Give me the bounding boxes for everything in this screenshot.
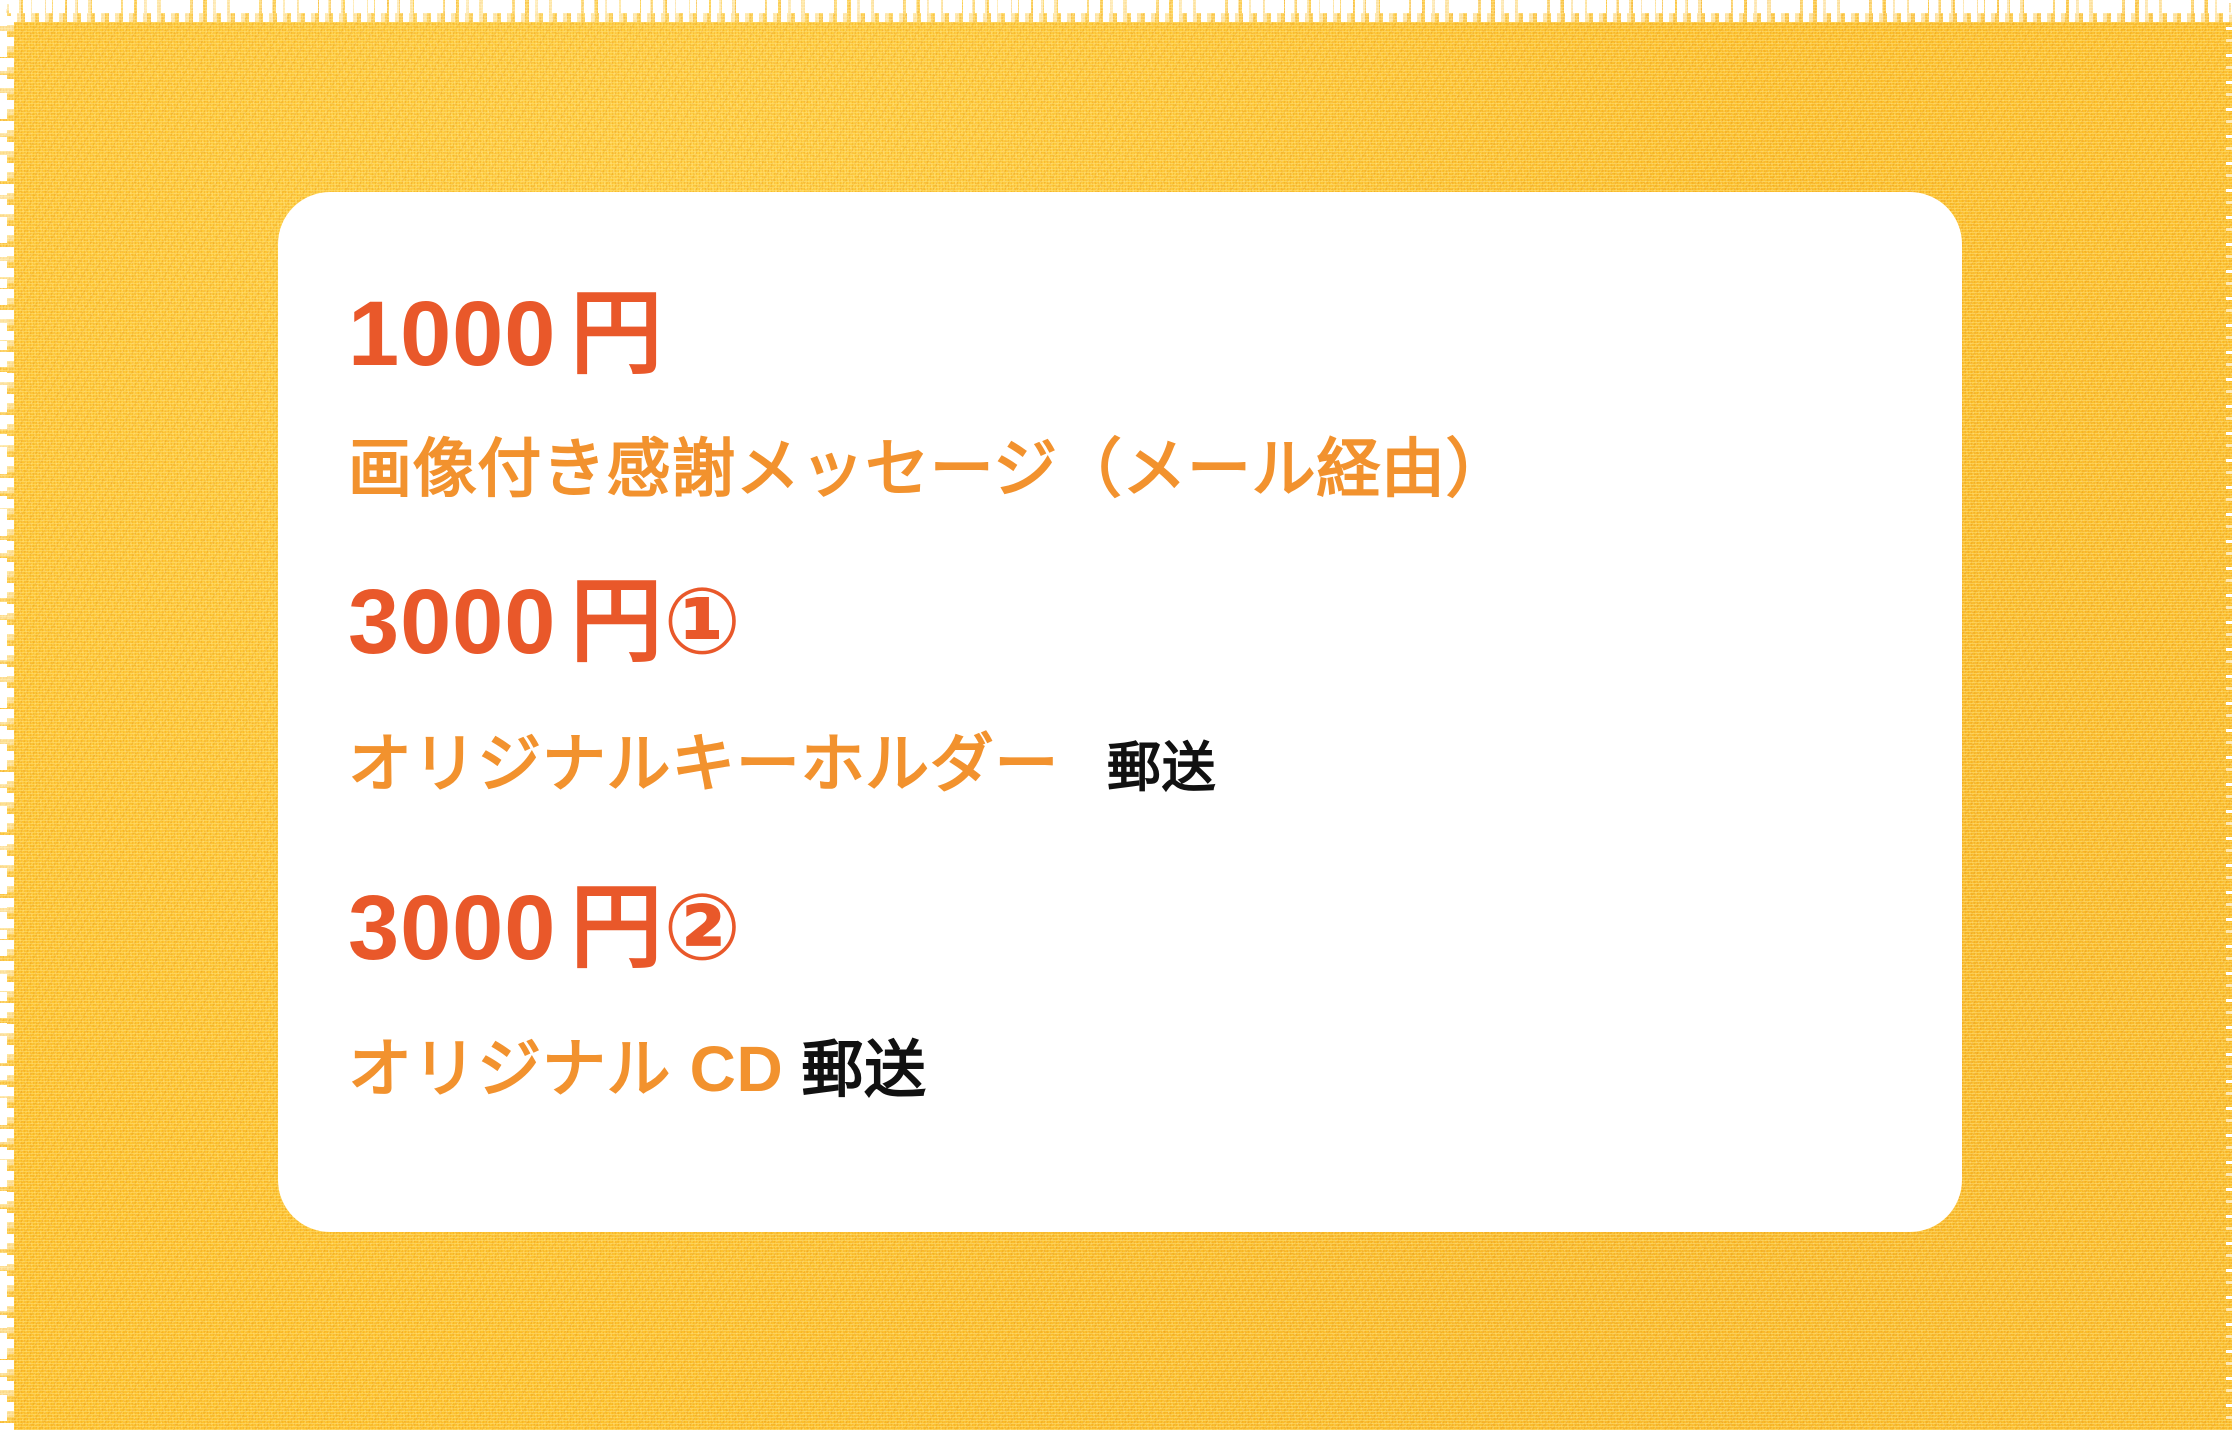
tier-perk-label: オリジナル CD <box>348 1033 783 1105</box>
tier-perk-1000: 画像付き感謝メッセージ（メール経由） <box>348 437 1510 501</box>
reward-tiers-card: 1000円 画像付き感謝メッセージ（メール経由） 3000円① オリジナルキーホ… <box>278 192 1962 1232</box>
tier-perk-3000-1: オリジナルキーホルダー郵送 <box>348 732 1216 796</box>
tier-price-amount: 3000 <box>348 877 556 979</box>
poster-canvas: 1000円 画像付き感謝メッセージ（メール経由） 3000円① オリジナルキーホ… <box>0 0 2232 1430</box>
tier-perk-label: オリジナルキーホルダー <box>348 728 1059 800</box>
tier-price-marker: ② <box>663 877 741 979</box>
tier-price-amount: 3000 <box>348 571 556 673</box>
tier-delivery-label: 郵送 <box>1107 738 1216 798</box>
tier-price-3000-2: 3000円② <box>348 882 741 974</box>
tier-price-3000-1: 3000円① <box>348 576 741 668</box>
tier-price-currency: 円 <box>570 571 663 673</box>
tier-delivery-label: 郵送 <box>801 1036 926 1105</box>
tier-price-currency: 円 <box>570 877 663 979</box>
tier-perk-label: 画像付き感謝メッセージ（メール経由） <box>348 433 1510 505</box>
tier-price-1000: 1000円 <box>348 288 663 380</box>
tier-perk-3000-2: オリジナル CD郵送 <box>348 1037 927 1102</box>
tier-price-currency: 円 <box>570 283 663 385</box>
tier-price-amount: 1000 <box>348 283 556 385</box>
tier-price-marker: ① <box>663 571 741 673</box>
